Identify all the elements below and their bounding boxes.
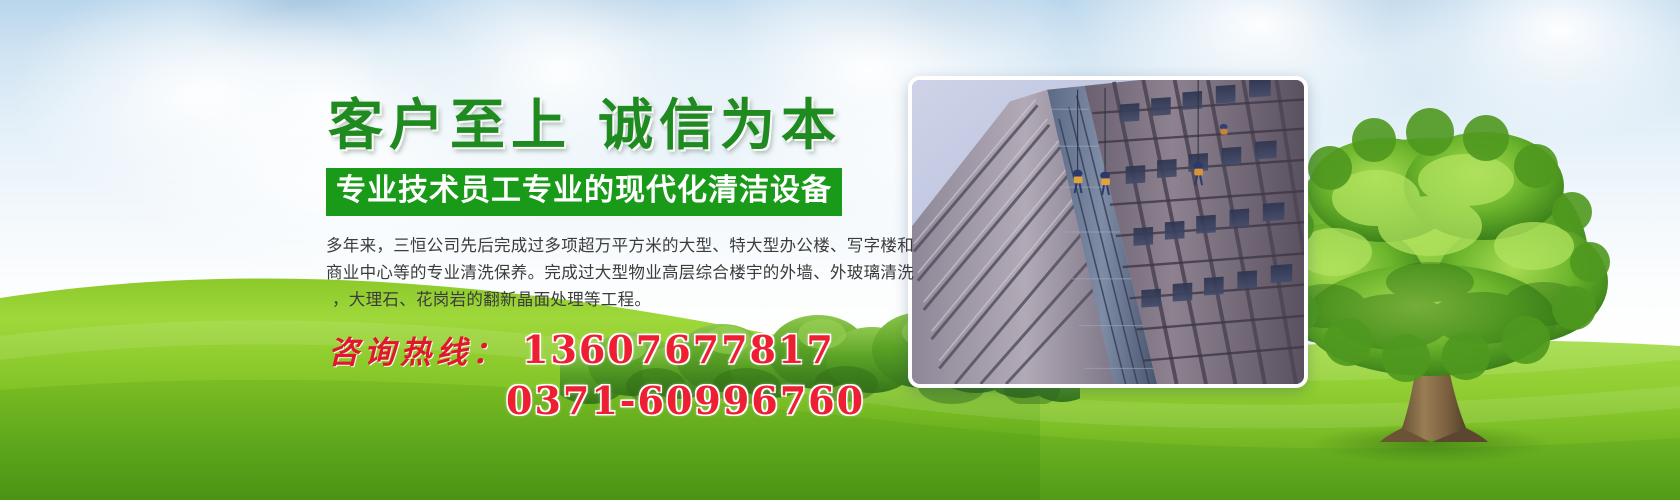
headline-part-1: 客户至上 [328, 92, 572, 157]
paragraph-line-1: 多年来，三恒公司先后完成过多项超万平方米的大型、特大型办公楼、写字楼和 [326, 232, 886, 259]
hotline-landline-number[interactable]: 0371-60996760 [506, 378, 902, 423]
page-title: 客户至上诚信为本 [328, 96, 902, 154]
cloud-shadow [1180, 0, 1510, 85]
description-paragraph: 多年来，三恒公司先后完成过多项超万平方米的大型、特大型办公楼、写字楼和 商业中心… [326, 232, 886, 313]
cloud-shadow [140, 0, 440, 100]
subtitle-bar: 专业技术员工专业的现代化清洁设备 [326, 168, 842, 216]
high-rise-window-cleaning-photo[interactable] [908, 76, 1308, 388]
promo-copy: 客户至上诚信为本 专业技术员工专业的现代化清洁设备 多年来，三恒公司先后完成过多… [322, 96, 902, 423]
hotline-block: 咨询热线：13607677817 0371-60996760 [328, 327, 902, 423]
headline-part-2: 诚信为本 [598, 92, 842, 157]
hotline-label: 咨询热线： [328, 335, 508, 371]
paragraph-line-2: 商业中心等的专业清洗保养。完成过大型物业高层综合楼宇的外墙、外玻璃清洗 [326, 259, 886, 286]
paragraph-line-3: ，大理石、花岗岩的翻新晶面处理等工程。 [326, 286, 886, 313]
promo-banner: 客户至上诚信为本 专业技术员工专业的现代化清洁设备 多年来，三恒公司先后完成过多… [0, 0, 1680, 500]
hotline-mobile-number[interactable]: 13607677817 [522, 327, 835, 372]
cloud-shadow [470, 0, 730, 70]
